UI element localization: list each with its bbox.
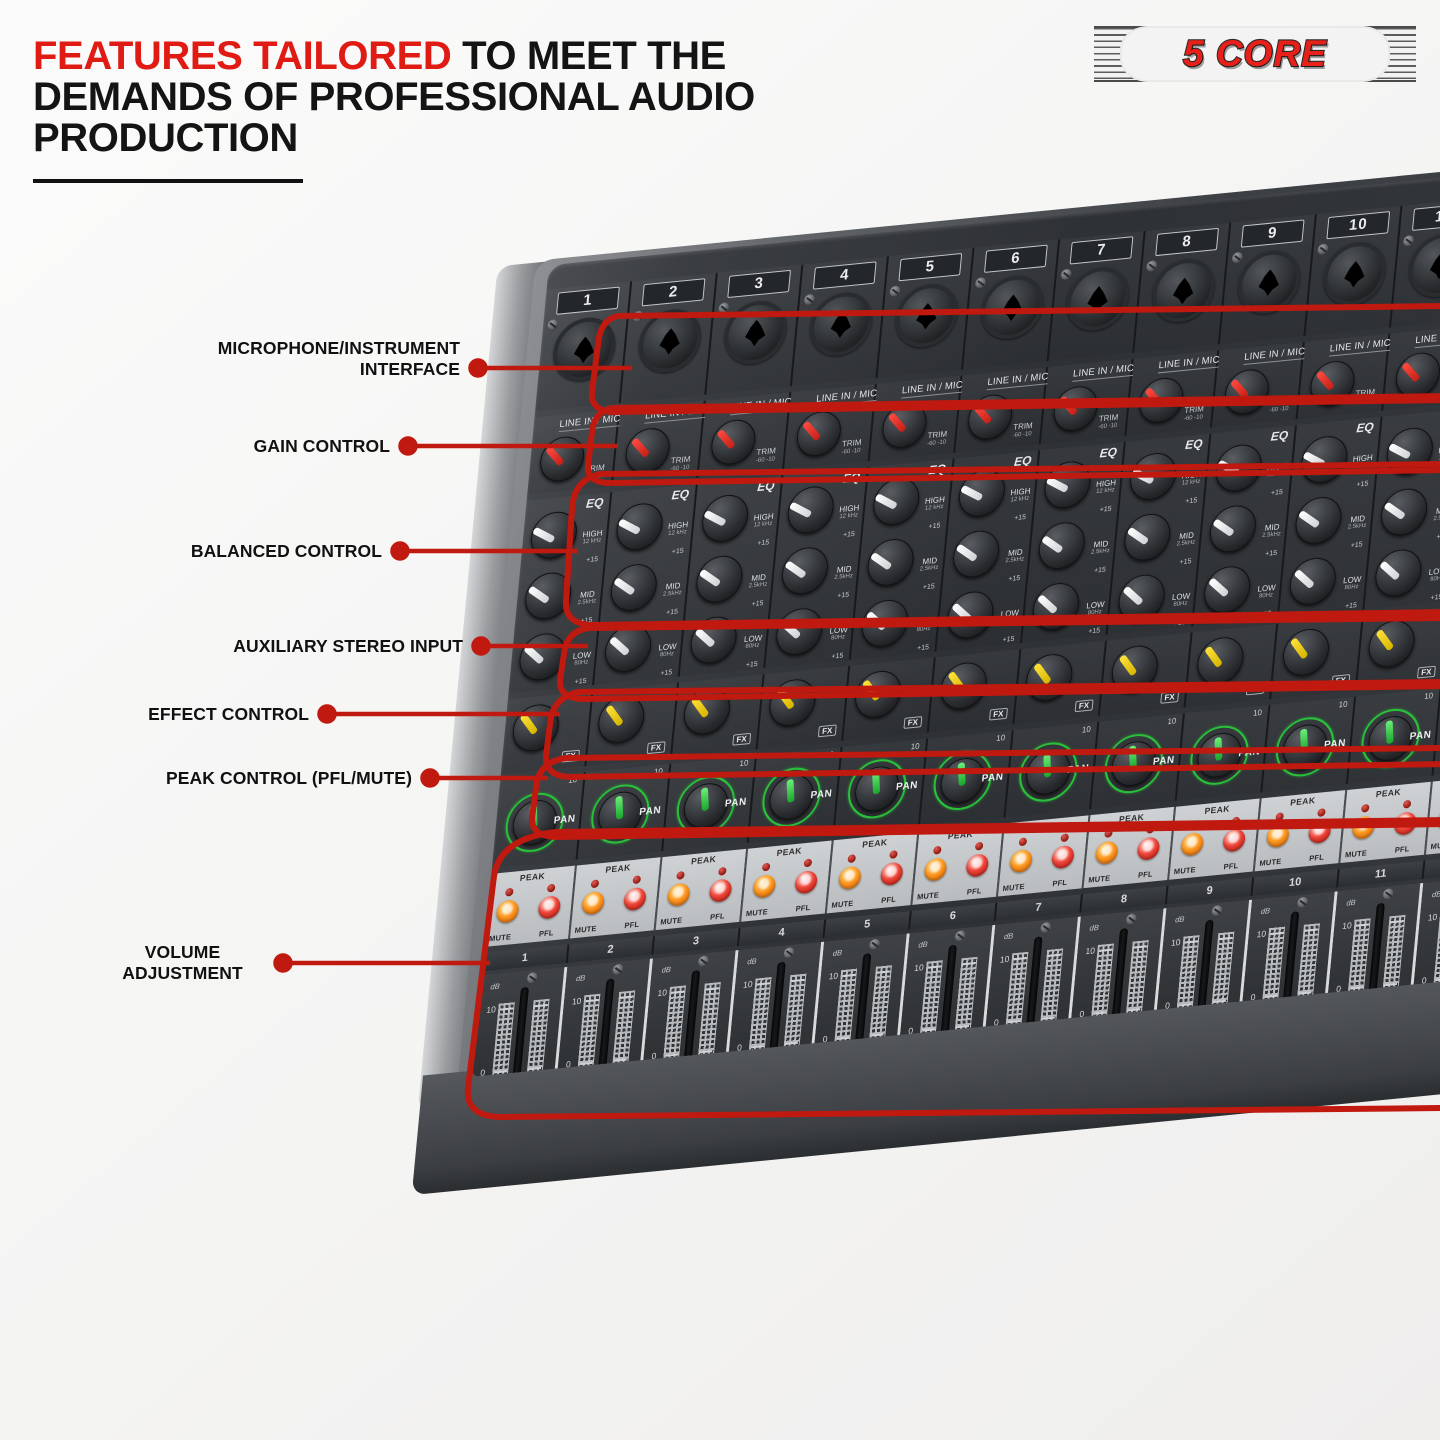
screw-icon xyxy=(889,285,901,297)
fader-scale-10-0: 10 xyxy=(1342,920,1352,931)
knob-pointer xyxy=(1127,527,1150,546)
pan-label: PAN xyxy=(1409,729,1432,742)
knob-wht[interactable] xyxy=(1373,547,1423,598)
knob-wht[interactable] xyxy=(1037,520,1087,571)
knob-wht[interactable] xyxy=(529,510,579,561)
line-in-mic-label: LINE IN / MIC xyxy=(1243,346,1305,365)
eq-section-label: EQ xyxy=(1270,428,1289,444)
knob-wht[interactable] xyxy=(1208,503,1258,554)
knob-pointer xyxy=(1144,387,1163,408)
eq-band-range-low: +15 xyxy=(574,678,586,686)
line-in-mic-label: LINE IN / MIC xyxy=(644,405,706,424)
mute-button[interactable] xyxy=(1351,815,1375,839)
label-balanced-control: BALANCED CONTROL xyxy=(80,541,382,562)
combo-input-jack[interactable] xyxy=(893,281,961,350)
pan-cell: 10PAN xyxy=(1005,722,1099,818)
eq-band-label-high: HIGH12 kHz xyxy=(924,496,945,513)
knob-yel[interactable] xyxy=(1024,652,1074,703)
fader-unit-label: dB xyxy=(1432,889,1440,899)
knob-wht[interactable] xyxy=(1128,451,1178,502)
eq-band-label-high: HIGH12 kHz xyxy=(838,504,859,521)
eq-band-label-mid: MID2.5kHz xyxy=(663,582,683,599)
button-highlight xyxy=(1100,844,1112,856)
knob-pointer xyxy=(784,560,807,579)
trim-range-label: -60 -10 xyxy=(584,473,604,481)
eq-band-label-mid: MID2.5kHz xyxy=(577,590,597,607)
label-auxiliary-stereo-input: AUXILIARY STEREO INPUT xyxy=(100,636,463,657)
pan-scale-label: 10 xyxy=(653,767,663,777)
fx-cell: FX xyxy=(1100,632,1193,715)
peak-label: PEAK xyxy=(1204,803,1230,816)
knob-wht[interactable] xyxy=(603,623,653,674)
fx-label: FX xyxy=(561,750,580,763)
trim-cell: LINE IN / MICTRIM-60 -10 xyxy=(1298,334,1391,419)
knob-wht[interactable] xyxy=(1202,564,1252,615)
label-microphone-instrument-interface: MICROPHONE/INSTRUMENT INTERFACE xyxy=(80,338,460,379)
fx-cell: FX xyxy=(843,657,936,740)
label-gain-control: GAIN CONTROL xyxy=(80,436,390,457)
peak-label: PEAK xyxy=(519,871,545,884)
knob-yel[interactable] xyxy=(596,694,646,745)
fx-cell: FX xyxy=(1357,607,1440,690)
channel-number-7: 7 xyxy=(1070,236,1134,264)
knob-wht[interactable] xyxy=(780,545,830,596)
channel-number-6: 6 xyxy=(984,245,1048,273)
trim-label: TRIM-60 -10 xyxy=(841,439,862,456)
channel-number-2: 2 xyxy=(642,278,706,306)
mute-label: MUTE xyxy=(746,907,769,918)
screw-icon xyxy=(526,972,538,984)
knob-pointer xyxy=(1208,577,1229,597)
trim-cell: LINE IN / MICTRIM-60 -10 xyxy=(1041,359,1134,444)
knob-pointer xyxy=(1316,370,1335,391)
screw-icon xyxy=(954,930,966,942)
knob-yel[interactable] xyxy=(1367,618,1417,669)
knob-yel[interactable] xyxy=(1195,635,1245,686)
eq-band-range-mid: +15 xyxy=(922,583,934,591)
leader-dot-gain-control xyxy=(401,439,416,454)
knob-wht[interactable] xyxy=(1116,573,1166,624)
fx-label: FX xyxy=(646,741,665,754)
console-top-panel: 123456789101112 LINE IN / MICTRIM-60 -10… xyxy=(472,167,1440,1077)
knob-pointer xyxy=(874,493,898,510)
peak-led-pfl xyxy=(1403,800,1412,809)
knob-pointer xyxy=(1204,646,1223,669)
knob-pointer xyxy=(618,518,642,535)
combo-input-jack[interactable] xyxy=(1064,264,1132,333)
fader-scale-10-0: 10 xyxy=(572,996,582,1007)
eq-band-label-low: LOW80Hz xyxy=(1171,592,1191,609)
eq-band-freq-mid: 2.5kHz xyxy=(919,565,938,573)
knob-wht[interactable] xyxy=(1031,581,1081,632)
pan-label: PAN xyxy=(1238,746,1261,759)
eq-band-range-low: +15 xyxy=(917,644,929,652)
fader-cell: dB100101520 xyxy=(472,967,567,1077)
pan-scale-label: 10 xyxy=(910,741,920,751)
eq-band-label-high: HIGH12 kHz xyxy=(1352,454,1373,471)
eq-section-label: EQ xyxy=(585,495,604,511)
pfl-label: PFL xyxy=(1394,844,1410,855)
headline-accent: FEATURES TAILORED xyxy=(33,34,451,78)
eq-band-label-low: LOW80Hz xyxy=(1428,567,1440,584)
knob-pointer xyxy=(789,502,813,519)
pfl-button[interactable] xyxy=(1393,811,1417,835)
eq-band-range-low: +15 xyxy=(660,669,672,677)
eq-band-range-high: +15 xyxy=(1014,514,1026,522)
knob-wht[interactable] xyxy=(1122,512,1172,563)
eq-band-range-mid: +15 xyxy=(1436,533,1440,541)
knob-pointer xyxy=(960,485,984,502)
fader-scale-10-0: 10 xyxy=(999,954,1009,965)
mute-button[interactable] xyxy=(752,874,776,898)
knob-yel[interactable] xyxy=(853,669,903,720)
peak-led-pfl xyxy=(804,858,813,867)
screw-icon xyxy=(1231,252,1243,264)
eq-band-freq-mid: 2.5kHz xyxy=(1433,515,1440,523)
eq-band-range-mid: +15 xyxy=(1179,558,1191,566)
knob-pointer xyxy=(545,446,564,467)
eq-band-freq-high: 12 kHz xyxy=(924,504,945,512)
knob-wht[interactable] xyxy=(614,501,664,552)
knob-red[interactable] xyxy=(538,435,586,484)
knob-red[interactable] xyxy=(881,401,929,450)
eq-band-label-high: HIGH12 kHz xyxy=(753,513,774,530)
knob-pointer xyxy=(1375,629,1394,652)
combo-input-jack[interactable] xyxy=(1321,239,1389,308)
eq-band-freq-low: 80Hz xyxy=(1085,609,1104,617)
button-highlight xyxy=(501,903,513,915)
button-highlight xyxy=(1142,840,1154,852)
mute-button[interactable] xyxy=(838,866,862,890)
pan-cell: 10PAN xyxy=(1262,697,1356,793)
mute-button[interactable] xyxy=(1180,832,1204,856)
knob-wht[interactable] xyxy=(1214,442,1264,493)
mute-button[interactable] xyxy=(496,899,520,923)
fader-unit-label: dB xyxy=(490,982,500,992)
screw-icon xyxy=(1146,260,1158,272)
knob-red[interactable] xyxy=(1223,367,1271,416)
knob-wht[interactable] xyxy=(860,598,910,649)
mute-button[interactable] xyxy=(923,857,947,881)
line-in-mic-label: LINE IN / MIC xyxy=(730,396,792,415)
knob-red[interactable] xyxy=(1137,376,1185,425)
knob-red[interactable] xyxy=(624,426,672,475)
knob-wht[interactable] xyxy=(1379,487,1429,538)
pfl-button[interactable] xyxy=(880,862,904,886)
peak-cell: PEAKMUTEPFL xyxy=(827,832,919,913)
peak-cell: PEAKMUTEPFL xyxy=(484,865,576,946)
mute-button[interactable] xyxy=(667,882,691,906)
knob-pointer xyxy=(802,420,821,441)
button-highlight xyxy=(1015,853,1027,865)
pfl-label: PFL xyxy=(881,894,897,905)
poster-canvas: FEATURES TAILORED TO MEET THE DEMANDS OF… xyxy=(0,0,1440,1440)
screw-icon xyxy=(1317,243,1329,255)
trim-label: TRIM-60 -10 xyxy=(1354,389,1375,406)
knob-pointer xyxy=(1379,561,1400,581)
label-peak-control: PEAK CONTROL (PFL/MUTE) xyxy=(60,768,412,789)
peak-label: PEAK xyxy=(1290,795,1316,808)
pfl-button[interactable] xyxy=(965,853,989,877)
eq-band-freq-high: 12 kHz xyxy=(838,513,859,521)
channel-strip-8: 8 xyxy=(1134,223,1231,353)
eq-band-freq-low: 80Hz xyxy=(914,626,933,634)
mute-button[interactable] xyxy=(1009,849,1033,873)
knob-pointer xyxy=(605,704,624,727)
knob-pointer xyxy=(1033,662,1052,685)
trim-cell: LINE IN / MICTRIM-60 -10 xyxy=(698,392,791,477)
knob-pointer xyxy=(866,611,887,631)
knob-pointer xyxy=(1217,460,1241,477)
mute-button[interactable] xyxy=(1095,840,1119,864)
fader-channel-number-12: 12 xyxy=(1424,852,1440,879)
eq-band-freq-mid: 2.5kHz xyxy=(1176,540,1195,548)
fx-label: FX xyxy=(989,708,1008,721)
peak-cell: PEAKMUTEPFL xyxy=(1340,782,1432,863)
eq-band-label-high: HIGH12 kHz xyxy=(1095,479,1116,496)
trim-range-label: -60 -10 xyxy=(841,447,861,455)
fx-label: FX xyxy=(1331,674,1350,687)
fx-cell: FX xyxy=(1014,641,1107,724)
screw-icon xyxy=(803,293,815,305)
peak-led-pfl xyxy=(632,875,641,884)
channel-strip-3: 3 xyxy=(706,265,803,395)
button-highlight xyxy=(1272,827,1284,839)
channel-number-8: 8 xyxy=(1155,228,1219,256)
knob-pointer xyxy=(1290,637,1309,660)
combo-input-jack[interactable] xyxy=(978,273,1046,342)
eq-band-label-high: HIGH12 kHz xyxy=(1009,487,1030,504)
eq-band-label-low: LOW80Hz xyxy=(1342,576,1362,593)
knob-pointer xyxy=(1294,569,1315,589)
pfl-label: PFL xyxy=(1138,869,1154,880)
knob-yel[interactable] xyxy=(939,660,989,711)
peak-led-mute xyxy=(591,879,600,888)
knob-wht[interactable] xyxy=(517,631,567,682)
pfl-button[interactable] xyxy=(794,870,818,894)
knob-pointer xyxy=(694,628,715,648)
knob-pointer xyxy=(862,679,881,702)
button-highlight xyxy=(885,865,897,877)
fx-label: FX xyxy=(732,733,751,746)
trim-label: TRIM-60 -10 xyxy=(670,456,691,473)
knob-wht[interactable] xyxy=(865,537,915,588)
knob-pointer xyxy=(699,569,722,588)
pfl-label: PFL xyxy=(1309,852,1325,863)
knob-wht[interactable] xyxy=(1293,495,1343,546)
knob-yel[interactable] xyxy=(682,685,732,736)
knob-wht[interactable] xyxy=(1288,556,1338,607)
eq-band-freq-high: 12 kHz xyxy=(753,521,774,529)
peak-label: PEAK xyxy=(947,829,973,842)
pan-scale-label: 10 xyxy=(1338,699,1348,709)
eq-band-label-high: HIGH12 kHz xyxy=(1266,462,1287,479)
pfl-button[interactable] xyxy=(1136,836,1160,860)
knob-wht[interactable] xyxy=(1299,434,1349,485)
button-highlight xyxy=(800,874,812,886)
knob-pointer xyxy=(958,762,966,786)
channel-number-3: 3 xyxy=(727,270,791,298)
pan-cell: 10PAN xyxy=(1091,713,1185,809)
leader-dot-effect-control xyxy=(320,707,335,722)
peak-led-mute xyxy=(1275,812,1284,821)
eq-band-freq-high: 12 kHz xyxy=(1181,479,1202,487)
pan-cell: 10PAN xyxy=(578,764,672,860)
eq-band-freq-mid: 2.5kHz xyxy=(1091,548,1110,556)
mute-label: MUTE xyxy=(1430,840,1440,851)
knob-red[interactable] xyxy=(1394,351,1440,400)
eq-band-range-mid: +15 xyxy=(837,592,849,600)
pfl-label: PFL xyxy=(1052,878,1068,889)
pfl-button[interactable] xyxy=(1222,828,1246,852)
peak-cell: PEAKMUTEPFL xyxy=(1169,798,1261,879)
pan-label: PAN xyxy=(639,805,662,818)
combo-input-jack[interactable] xyxy=(1235,248,1303,317)
knob-wht[interactable] xyxy=(786,484,836,535)
mute-label: MUTE xyxy=(1345,848,1368,859)
pfl-button[interactable] xyxy=(1051,845,1075,869)
knob-wht[interactable] xyxy=(1042,459,1092,510)
pan-label: PAN xyxy=(724,797,747,810)
pfl-button[interactable] xyxy=(1308,820,1332,844)
mute-label: MUTE xyxy=(831,899,854,910)
knob-wht[interactable] xyxy=(523,570,573,621)
peak-label: PEAK xyxy=(691,854,717,867)
knob-wht[interactable] xyxy=(774,606,824,657)
mute-button[interactable] xyxy=(581,891,605,915)
knob-red[interactable] xyxy=(966,393,1014,442)
eq-section-label: EQ xyxy=(1099,445,1118,461)
button-highlight xyxy=(758,878,770,890)
channel-number-10: 10 xyxy=(1326,211,1390,239)
mute-button[interactable] xyxy=(1266,824,1290,848)
knob-pointer xyxy=(1043,753,1051,777)
screw-icon xyxy=(1403,235,1415,247)
fx-label: FX xyxy=(903,716,922,729)
combo-input-jack[interactable] xyxy=(807,290,875,359)
knob-pointer xyxy=(631,437,650,458)
knob-pointer xyxy=(1386,720,1394,744)
fader-scale-10-0: 10 xyxy=(1171,937,1181,948)
knob-red[interactable] xyxy=(1308,359,1356,408)
channel-number-11: 11 xyxy=(1412,203,1440,231)
knob-wht[interactable] xyxy=(609,562,659,613)
knob-pointer xyxy=(780,619,801,639)
button-highlight xyxy=(629,890,641,902)
mixer-console-photo: 123456789101112 LINE IN / MICTRIM-60 -10… xyxy=(440,270,1440,1290)
eq-band-freq-low: 80Hz xyxy=(1428,576,1440,584)
knob-yel[interactable] xyxy=(1110,644,1160,695)
knob-yel[interactable] xyxy=(1281,627,1331,678)
eq-band-label-low: LOW80Hz xyxy=(1085,601,1105,618)
pfl-button[interactable] xyxy=(709,878,733,902)
trim-label: TRIM-60 -10 xyxy=(927,431,948,448)
eq-band-label-high: HIGH12 kHz xyxy=(582,529,603,546)
eq-band-range-high: +15 xyxy=(757,539,769,547)
peak-led-mute xyxy=(1104,829,1113,838)
knob-red[interactable] xyxy=(795,409,843,458)
pfl-button[interactable] xyxy=(537,895,561,919)
fader-unit-label: dB xyxy=(661,965,671,975)
combo-input-jack[interactable] xyxy=(551,315,619,384)
mute-label: MUTE xyxy=(1259,857,1282,868)
knob-wht[interactable] xyxy=(689,614,739,665)
eq-band-label-low: LOW80Hz xyxy=(829,626,849,643)
eq-band-range-low: +15 xyxy=(1430,594,1440,602)
eq-band-range-high: +15 xyxy=(843,531,855,539)
knob-wht[interactable] xyxy=(700,493,750,544)
combo-input-jack[interactable] xyxy=(1150,256,1218,325)
eq-section-label: EQ xyxy=(842,470,861,486)
fader-unit-label: dB xyxy=(918,940,928,950)
pan-cell: 10PAN xyxy=(663,755,757,851)
knob-yel[interactable] xyxy=(767,677,817,728)
button-highlight xyxy=(672,886,684,898)
screw-icon xyxy=(612,963,624,975)
combo-input-jack[interactable] xyxy=(722,298,790,367)
knob-pointer xyxy=(1300,728,1308,752)
eq-band-freq-low: 80Hz xyxy=(1000,618,1019,626)
fader-unit-label: dB xyxy=(1175,914,1185,924)
screw-icon xyxy=(698,955,710,967)
trim-cell: LINE IN / MICTRIM-60 -10 xyxy=(1383,325,1440,410)
eq-band-range-high: +15 xyxy=(1099,506,1111,514)
trim-cell: LINE IN / MICTRIM-60 -10 xyxy=(1126,350,1219,435)
knob-wht[interactable] xyxy=(951,528,1001,579)
trim-label: TRIM-60 -10 xyxy=(755,447,776,464)
button-highlight xyxy=(1057,848,1069,860)
knob-pointer xyxy=(1212,518,1235,537)
pan-cell: 10PAN xyxy=(1348,688,1440,784)
knob-pointer xyxy=(716,429,735,450)
mute-label: MUTE xyxy=(574,924,597,935)
pfl-button[interactable] xyxy=(623,887,647,911)
eq-band-range-low: +15 xyxy=(1173,619,1185,627)
fx-label: FX xyxy=(1417,666,1436,679)
channel-strip-7: 7 xyxy=(1049,231,1146,361)
eq-band-label-mid: MID2.5kHz xyxy=(1262,523,1282,540)
screw-icon xyxy=(1125,913,1137,925)
knob-yel[interactable] xyxy=(511,702,561,753)
channel-number-5: 5 xyxy=(898,253,962,281)
peak-led-pfl xyxy=(889,850,898,859)
knob-wht[interactable] xyxy=(1385,426,1435,477)
screw-icon xyxy=(547,319,559,331)
knob-wht[interactable] xyxy=(694,554,744,605)
eq-band-label-low: LOW80Hz xyxy=(1000,609,1020,626)
pfl-label: PFL xyxy=(966,886,982,897)
knob-red[interactable] xyxy=(709,418,757,467)
knob-red[interactable] xyxy=(1052,384,1100,433)
knob-pointer xyxy=(523,644,544,664)
eq-band-label-low: LOW80Hz xyxy=(914,617,934,634)
eq-band-freq-low: 80Hz xyxy=(657,651,676,659)
fx-label: FX xyxy=(1160,691,1179,704)
line-in-mic-label: LINE IN / MIC xyxy=(559,413,621,432)
fader-scale-10-0: 10 xyxy=(486,1004,496,1015)
knob-wht[interactable] xyxy=(871,476,921,527)
knob-wht[interactable] xyxy=(945,589,995,640)
pan-cell: 10PAN xyxy=(492,772,586,868)
knob-wht[interactable] xyxy=(957,468,1007,519)
fader-scale-hatch-left xyxy=(576,994,600,1077)
peak-led-mute xyxy=(505,888,514,897)
trim-cell: LINE IN / MICTRIM-60 -10 xyxy=(527,409,620,494)
pfl-label: PFL xyxy=(539,928,555,939)
screw-icon xyxy=(783,947,795,959)
pfl-label: PFL xyxy=(710,911,726,922)
combo-input-jack[interactable] xyxy=(636,306,704,375)
